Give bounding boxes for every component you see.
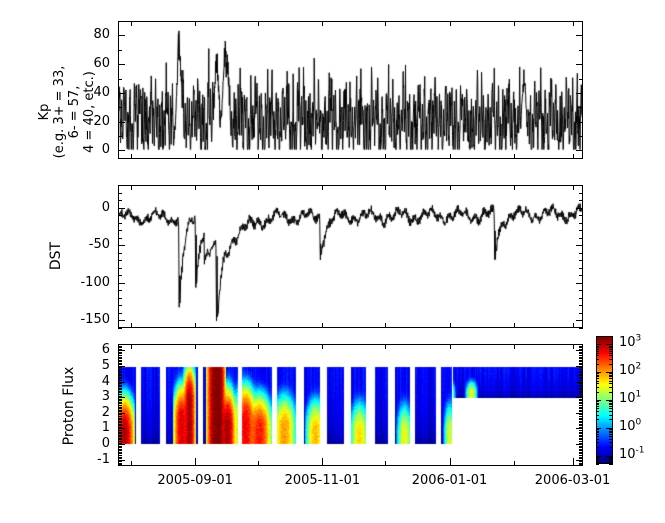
tick-mark [118, 328, 122, 329]
tick-mark [514, 154, 515, 159]
tick-mark [579, 290, 583, 291]
tick-mark [322, 154, 323, 159]
tick-mark [195, 323, 196, 328]
y-tick-label: -50 [66, 238, 110, 251]
tick-mark [118, 461, 122, 462]
tick-mark [322, 458, 323, 466]
y-tick-label: 1 [66, 421, 110, 434]
tick-mark [579, 455, 583, 456]
tick-mark [118, 313, 122, 314]
tick-mark [322, 323, 323, 328]
tick-mark [118, 413, 125, 414]
y-tick-label: -1 [66, 453, 110, 466]
tick-mark [579, 422, 583, 423]
tick-mark [609, 403, 613, 404]
x-tick-label: 2005-09-01 [147, 474, 243, 487]
tick-mark [118, 364, 122, 365]
tick-mark [579, 357, 583, 358]
tick-mark [118, 377, 122, 378]
tick-mark [596, 375, 599, 376]
tick-mark [131, 185, 132, 190]
tick-mark [450, 323, 451, 328]
tick-mark [596, 392, 599, 393]
colorbar-tick-label: 101 [619, 392, 641, 405]
tick-mark [118, 416, 122, 417]
tick-mark [579, 50, 583, 51]
tick-mark [118, 399, 122, 400]
tick-mark [596, 373, 599, 374]
tick-mark [322, 185, 323, 190]
tick-mark [118, 79, 122, 80]
tick-mark [609, 349, 613, 350]
tick-mark [195, 185, 196, 190]
tick-mark [609, 351, 613, 352]
tick-mark [609, 408, 613, 409]
tick-mark [118, 93, 125, 94]
y-tick-label: 80 [66, 28, 110, 41]
tick-mark [579, 230, 583, 231]
tick-mark [596, 346, 599, 347]
tick-mark [596, 429, 599, 430]
tick-mark [579, 371, 583, 372]
tick-mark [596, 408, 599, 409]
tick-mark [579, 458, 583, 459]
tick-mark [118, 424, 122, 425]
tick-mark [609, 347, 613, 348]
tick-mark [118, 200, 122, 201]
kp-axis-label-line: (e.g. 3+ = 33, [52, 37, 67, 187]
tick-mark [579, 378, 583, 379]
tick-mark [118, 430, 122, 431]
tick-mark [118, 428, 125, 429]
tick-mark [579, 383, 583, 384]
tick-mark [609, 439, 613, 440]
tick-mark [596, 401, 599, 402]
dst-plot-canvas [119, 186, 582, 327]
tick-mark [579, 313, 583, 314]
tick-mark [579, 441, 583, 442]
tick-mark [118, 350, 125, 351]
tick-mark [118, 150, 125, 151]
tick-mark [579, 408, 583, 409]
tick-mark [573, 21, 574, 26]
tick-mark [118, 436, 122, 437]
tick-mark [576, 350, 583, 351]
tick-mark [609, 353, 613, 354]
tick-mark [118, 464, 122, 465]
y-tick-label: -150 [66, 313, 110, 326]
tick-mark [450, 185, 451, 190]
tick-mark [606, 372, 613, 373]
y-tick-label: 3 [66, 390, 110, 403]
tick-mark [596, 359, 599, 360]
tick-mark [579, 363, 583, 364]
tick-mark [131, 323, 132, 328]
tick-mark [118, 371, 122, 372]
tick-mark [450, 458, 451, 466]
tick-mark [579, 389, 583, 390]
tick-mark [118, 410, 122, 411]
tick-mark [118, 457, 122, 458]
tick-mark [385, 185, 386, 190]
tick-mark [118, 408, 122, 409]
tick-mark [118, 283, 125, 284]
tick-mark [609, 381, 613, 382]
tick-mark [596, 353, 599, 354]
tick-mark [596, 378, 599, 379]
tick-mark [118, 253, 122, 254]
tick-mark [118, 366, 125, 367]
tick-mark [609, 442, 613, 443]
tick-mark [118, 449, 122, 450]
tick-mark [579, 439, 583, 440]
tick-mark [579, 446, 583, 447]
tick-mark [450, 344, 451, 349]
tick-mark [118, 223, 122, 224]
tick-mark [606, 400, 613, 401]
tick-mark [609, 431, 613, 432]
tick-mark [573, 154, 574, 159]
tick-mark [596, 432, 599, 433]
y-tick-label: 5 [66, 359, 110, 372]
tick-mark [579, 358, 583, 359]
tick-mark [118, 357, 122, 358]
tick-mark [579, 402, 583, 403]
tick-mark [322, 21, 323, 26]
tick-mark [579, 374, 583, 375]
x-tick-label: 2006-03-01 [525, 474, 621, 487]
tick-mark [118, 380, 122, 381]
tick-mark [118, 425, 122, 426]
tick-mark [118, 347, 122, 348]
tick-mark [118, 385, 122, 386]
tick-mark [118, 320, 125, 321]
tick-mark [118, 298, 122, 299]
tick-mark [596, 415, 599, 416]
tick-mark [118, 305, 122, 306]
tick-mark [576, 397, 583, 398]
tick-mark [579, 463, 583, 464]
tick-mark [579, 223, 583, 224]
tick-mark [195, 344, 196, 349]
tick-mark [609, 383, 613, 384]
tick-mark [609, 457, 613, 458]
tick-mark [118, 35, 125, 36]
tick-mark [118, 403, 122, 404]
tick-mark [576, 428, 583, 429]
tick-mark [118, 383, 122, 384]
tick-mark [596, 347, 599, 348]
tick-mark [118, 208, 125, 209]
kp-plot-canvas [119, 22, 582, 158]
tick-mark [118, 418, 122, 419]
tick-mark [579, 457, 583, 458]
tick-mark [118, 230, 122, 231]
tick-mark [579, 305, 583, 306]
colorbar-tick-label: 100 [619, 420, 641, 433]
tick-mark [258, 323, 259, 328]
tick-mark [596, 464, 599, 465]
tick-mark [609, 458, 613, 459]
kp-panel [118, 21, 583, 159]
tick-mark [118, 215, 122, 216]
tick-mark [385, 344, 386, 349]
tick-mark [118, 414, 122, 415]
tick-mark [576, 460, 583, 461]
colorbar-tick-label: 102 [619, 364, 641, 377]
y-tick-label: 2 [66, 406, 110, 419]
y-tick-label: 60 [66, 57, 110, 70]
tick-mark [258, 344, 259, 349]
tick-mark [579, 411, 583, 412]
tick-mark [609, 401, 613, 402]
tick-mark [579, 200, 583, 201]
tick-mark [596, 460, 599, 461]
tick-mark [609, 432, 613, 433]
tick-mark [579, 430, 583, 431]
tick-mark [385, 461, 386, 466]
tick-mark [118, 435, 122, 436]
tick-mark [609, 387, 613, 388]
tick-mark [195, 154, 196, 159]
tick-mark [579, 367, 583, 368]
tick-mark [118, 422, 122, 423]
tick-mark [131, 461, 132, 466]
tick-mark [579, 215, 583, 216]
tick-mark [118, 439, 122, 440]
tick-mark [579, 421, 583, 422]
tick-mark [118, 400, 122, 401]
tick-mark [606, 456, 613, 457]
tick-mark [118, 421, 122, 422]
tick-mark [609, 359, 613, 360]
tick-mark [118, 402, 122, 403]
tick-mark [609, 429, 613, 430]
tick-mark [579, 346, 583, 347]
tick-mark [118, 388, 122, 389]
tick-mark [579, 355, 583, 356]
tick-mark [579, 432, 583, 433]
tick-mark [576, 366, 583, 367]
tick-mark [596, 406, 599, 407]
tick-mark [579, 361, 583, 362]
tick-mark [118, 391, 122, 392]
tick-mark [258, 461, 259, 466]
tick-mark [118, 268, 122, 269]
tick-mark [579, 347, 583, 348]
tick-mark [579, 298, 583, 299]
tick-mark [118, 352, 122, 353]
tick-mark [576, 382, 583, 383]
kp-axis-label-line: Kp [37, 37, 52, 187]
tick-mark [118, 275, 122, 276]
tick-mark [596, 381, 599, 382]
tick-mark [118, 374, 122, 375]
tick-mark [573, 344, 574, 349]
tick-mark [118, 407, 122, 408]
tick-mark [118, 444, 125, 445]
tick-mark [579, 435, 583, 436]
tick-mark [118, 450, 122, 451]
tick-mark [576, 413, 583, 414]
tick-mark [609, 376, 613, 377]
proton-flux-heatmap-canvas [119, 345, 582, 465]
tick-mark [118, 361, 122, 362]
y-tick-label: 0 [66, 437, 110, 450]
tick-mark [596, 457, 599, 458]
tick-mark [579, 419, 583, 420]
tick-mark [118, 433, 122, 434]
tick-mark [609, 464, 613, 465]
tick-mark [579, 253, 583, 254]
tick-mark [579, 438, 583, 439]
tick-mark [579, 449, 583, 450]
tick-mark [579, 399, 583, 400]
tick-mark [118, 453, 122, 454]
tick-mark [579, 453, 583, 454]
colorbar-tick-label: 10-1 [619, 448, 645, 461]
tick-mark [195, 21, 196, 26]
figure-root: Kp(e.g. 3+ = 33,6- = 57,4 = 40, etc.) 02… [0, 0, 665, 523]
tick-mark [579, 388, 583, 389]
tick-mark [579, 328, 583, 329]
tick-mark [118, 378, 122, 379]
tick-mark [576, 283, 583, 284]
tick-mark [579, 353, 583, 354]
tick-mark [118, 438, 122, 439]
x-tick-label: 2006-01-01 [402, 474, 498, 487]
tick-mark [596, 456, 601, 457]
tick-mark [118, 452, 122, 453]
tick-mark [596, 442, 599, 443]
y-tick-label: 20 [66, 115, 110, 128]
tick-mark [609, 462, 613, 463]
tick-mark [576, 35, 583, 36]
tick-mark [606, 344, 613, 345]
tick-mark [118, 245, 125, 246]
tick-mark [579, 377, 583, 378]
tick-mark [606, 428, 613, 429]
tick-mark [118, 193, 122, 194]
tick-mark [609, 419, 613, 420]
tick-mark [579, 386, 583, 387]
tick-mark [118, 360, 122, 361]
tick-mark [118, 392, 122, 393]
tick-mark [118, 447, 122, 448]
y-tick-label: -100 [66, 276, 110, 289]
tick-mark [118, 375, 122, 376]
tick-mark [596, 447, 599, 448]
tick-mark [118, 355, 122, 356]
tick-mark [609, 364, 613, 365]
tick-mark [579, 424, 583, 425]
tick-mark [385, 154, 386, 159]
tick-mark [596, 383, 599, 384]
tick-mark [596, 411, 599, 412]
tick-mark [258, 21, 259, 26]
tick-mark [596, 404, 599, 405]
tick-mark [609, 447, 613, 448]
tick-mark [579, 436, 583, 437]
tick-mark [609, 415, 613, 416]
tick-mark [596, 419, 599, 420]
tick-mark [573, 458, 574, 466]
tick-mark [118, 432, 122, 433]
tick-mark [118, 358, 122, 359]
tick-mark [514, 461, 515, 466]
tick-mark [118, 369, 122, 370]
tick-mark [596, 462, 599, 463]
tick-mark [385, 21, 386, 26]
tick-mark [579, 268, 583, 269]
tick-mark [118, 290, 122, 291]
tick-mark [609, 375, 613, 376]
tick-mark [579, 400, 583, 401]
tick-mark [579, 405, 583, 406]
tick-mark [579, 433, 583, 434]
tick-mark [596, 403, 599, 404]
tick-mark [131, 21, 132, 26]
tick-mark [579, 107, 583, 108]
tick-mark [195, 458, 196, 466]
tick-mark [576, 122, 583, 123]
tick-mark [118, 405, 122, 406]
tick-mark [322, 344, 323, 349]
tick-mark [609, 373, 613, 374]
tick-mark [258, 185, 259, 190]
y-tick-label: 40 [66, 86, 110, 99]
tick-mark [118, 346, 122, 347]
tick-mark [579, 410, 583, 411]
tick-mark [579, 360, 583, 361]
y-tick-label: 6 [66, 343, 110, 356]
x-tick-label: 2005-11-01 [274, 474, 370, 487]
tick-mark [579, 372, 583, 373]
tick-mark [579, 416, 583, 417]
tick-mark [118, 50, 122, 51]
tick-mark [579, 352, 583, 353]
tick-mark [118, 122, 125, 123]
tick-mark [609, 392, 613, 393]
tick-mark [514, 185, 515, 190]
tick-mark [596, 436, 599, 437]
tick-mark [118, 64, 125, 65]
tick-mark [118, 260, 122, 261]
tick-mark [118, 397, 125, 398]
tick-mark [596, 458, 599, 459]
tick-mark [576, 444, 583, 445]
tick-mark [131, 154, 132, 159]
tick-mark [118, 446, 122, 447]
tick-mark [609, 404, 613, 405]
tick-mark [609, 436, 613, 437]
tick-mark [596, 336, 599, 337]
tick-mark [609, 336, 613, 337]
tick-mark [118, 463, 122, 464]
tick-mark [579, 391, 583, 392]
tick-mark [609, 355, 613, 356]
tick-mark [118, 382, 125, 383]
tick-mark [131, 344, 132, 349]
tick-mark [579, 407, 583, 408]
tick-mark [579, 364, 583, 365]
tick-mark [118, 367, 122, 368]
tick-mark [118, 353, 122, 354]
tick-mark [579, 185, 583, 186]
tick-mark [579, 79, 583, 80]
tick-mark [596, 431, 599, 432]
tick-mark [118, 344, 122, 345]
